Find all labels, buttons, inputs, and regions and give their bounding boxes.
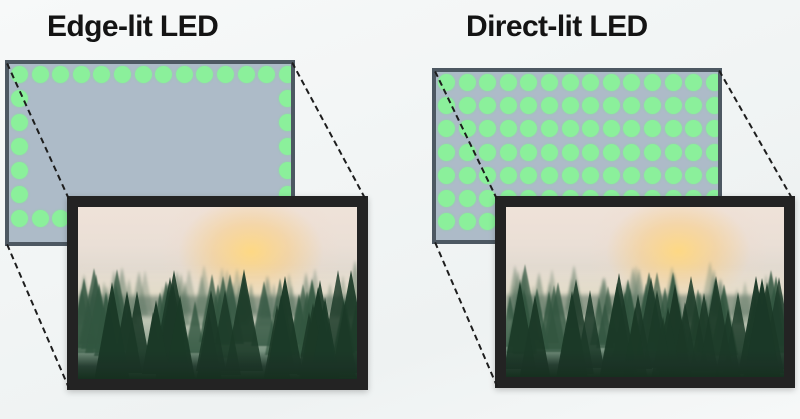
led-dot [73, 66, 90, 83]
led-dot [520, 97, 537, 114]
led-dot [623, 120, 640, 137]
led-dot [685, 120, 702, 137]
led-dot [520, 74, 537, 91]
led-dot [500, 120, 517, 137]
led-dot [52, 66, 69, 83]
led-dot [438, 74, 455, 91]
led-dot [541, 144, 558, 161]
led-dot [541, 167, 558, 184]
led-dot [644, 97, 661, 114]
led-dot [706, 167, 722, 184]
led-dot [541, 97, 558, 114]
led-dot [685, 167, 702, 184]
led-dot [644, 120, 661, 137]
led-dot [623, 167, 640, 184]
led-dot [93, 66, 110, 83]
led-dot [479, 97, 496, 114]
led-dot [459, 97, 476, 114]
led-dot [562, 144, 579, 161]
led-dot [520, 120, 537, 137]
led-dot [438, 213, 455, 230]
led-dot [603, 167, 620, 184]
led-dot [459, 213, 476, 230]
led-dot [479, 190, 496, 207]
led-dot [155, 66, 172, 83]
led-dot [623, 97, 640, 114]
led-dot [706, 97, 722, 114]
led-dot [11, 114, 28, 131]
led-dot [459, 167, 476, 184]
led-dot [217, 66, 234, 83]
led-dot [135, 66, 152, 83]
led-dot [479, 167, 496, 184]
led-dot [706, 144, 722, 161]
led-dot [32, 66, 49, 83]
led-dot [665, 144, 682, 161]
led-dot [685, 97, 702, 114]
led-dot [603, 144, 620, 161]
led-dot [582, 74, 599, 91]
led-dot [520, 144, 537, 161]
led-dot [279, 138, 295, 155]
led-dot [11, 138, 28, 155]
led-dot [644, 167, 661, 184]
forest-sunrise-artwork [506, 207, 784, 377]
led-dot [479, 213, 496, 230]
led-dot [459, 144, 476, 161]
led-dot [279, 114, 295, 131]
led-dot [238, 66, 255, 83]
direct-lit-title: Direct-lit LED [466, 12, 648, 42]
direct-lit-tv [495, 196, 795, 388]
led-dot [438, 97, 455, 114]
foreground-layer [78, 351, 357, 379]
led-dot [114, 66, 131, 83]
led-dot [562, 74, 579, 91]
led-dot [562, 97, 579, 114]
direct-lit-tv-screen [506, 207, 784, 377]
led-dot [11, 162, 28, 179]
led-dot [459, 120, 476, 137]
led-dot [665, 167, 682, 184]
edge-lit-tv [67, 196, 368, 390]
led-dot [623, 74, 640, 91]
led-dot [541, 74, 558, 91]
led-dot [11, 210, 28, 227]
comparison-diagram: Edge-lit LED Direct-lit LED [0, 0, 800, 419]
led-dot [500, 167, 517, 184]
led-dot [438, 190, 455, 207]
led-dot [279, 90, 295, 107]
led-dot [500, 97, 517, 114]
led-dot [438, 144, 455, 161]
led-dot [623, 144, 640, 161]
led-dot [279, 162, 295, 179]
led-dot [603, 120, 620, 137]
led-dot [603, 74, 620, 91]
led-dot [279, 66, 295, 83]
led-dot [644, 74, 661, 91]
led-dot [665, 74, 682, 91]
led-dot [665, 120, 682, 137]
edge-lit-title: Edge-lit LED [47, 12, 218, 42]
led-dot [479, 120, 496, 137]
led-dot [520, 167, 537, 184]
led-dot [11, 186, 28, 203]
forest-sunrise-artwork [78, 207, 357, 379]
led-dot [644, 144, 661, 161]
led-dot [706, 74, 722, 91]
led-dot [562, 167, 579, 184]
led-dot [176, 66, 193, 83]
led-dot [258, 66, 275, 83]
led-dot [479, 74, 496, 91]
led-dot [438, 120, 455, 137]
led-dot [603, 97, 620, 114]
led-dot [685, 144, 702, 161]
led-dot [459, 190, 476, 207]
led-dot [32, 210, 49, 227]
led-dot [665, 97, 682, 114]
led-dot [541, 120, 558, 137]
led-dot [562, 120, 579, 137]
led-dot [582, 167, 599, 184]
led-dot [500, 74, 517, 91]
led-dot [196, 66, 213, 83]
led-dot [438, 167, 455, 184]
foreground-layer [506, 350, 784, 377]
led-dot [582, 144, 599, 161]
led-dot [706, 120, 722, 137]
led-dot [500, 144, 517, 161]
edge-lit-tv-screen [78, 207, 357, 379]
led-dot [685, 74, 702, 91]
led-dot [582, 120, 599, 137]
led-dot [11, 90, 28, 107]
led-dot [582, 97, 599, 114]
led-dot [459, 74, 476, 91]
led-dot [11, 66, 28, 83]
led-dot [479, 144, 496, 161]
